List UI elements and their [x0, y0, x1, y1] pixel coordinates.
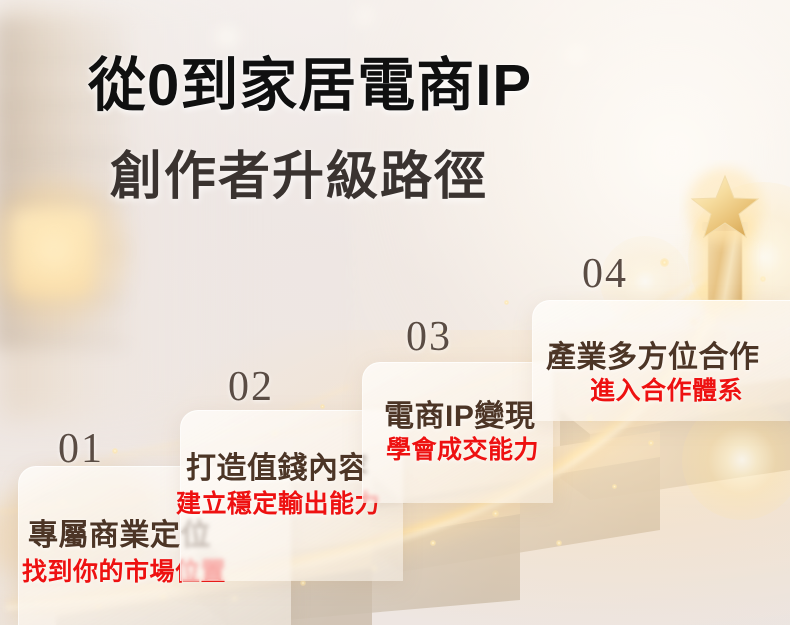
- step-title-04: 產業多方位合作: [546, 332, 760, 376]
- step-title-02: 打造值錢內容: [186, 443, 369, 487]
- step-title-03: 電商IP變現: [384, 391, 535, 435]
- page-title: 從0到家居電商IP: [88, 38, 532, 122]
- page-subtitle: 創作者升級路徑: [110, 134, 488, 209]
- step-number-04: 04: [582, 250, 628, 298]
- step-desc-02: 建立穩定輸出能力: [176, 484, 380, 520]
- step-number-02: 02: [228, 363, 274, 411]
- step-number-03: 03: [406, 313, 452, 361]
- step-desc-03: 學會成交能力: [386, 430, 539, 466]
- poster-canvas: 從0到家居電商IP 創作者升級路徑 01 專屬商業定位 找到你的市場位置 02 …: [0, 0, 790, 625]
- step-desc-04: 進入合作體系: [590, 371, 743, 407]
